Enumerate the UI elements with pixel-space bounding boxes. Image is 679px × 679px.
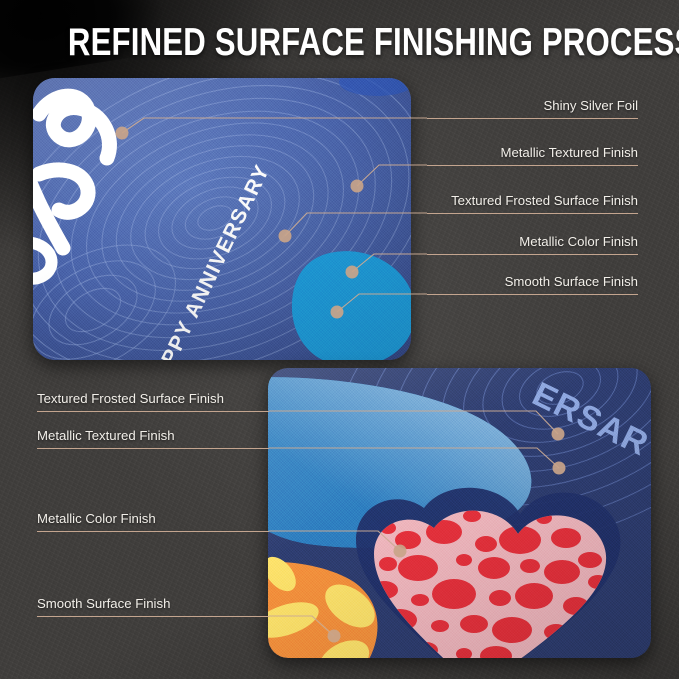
label-underline xyxy=(427,118,638,119)
card-bottom-grain xyxy=(268,368,651,658)
finish-label-top-2[interactable]: Textured Frosted Surface Finish xyxy=(451,193,638,209)
card-bottom-caption-text: ERSAR xyxy=(526,375,651,464)
finish-label-top-3[interactable]: Metallic Color Finish xyxy=(519,234,638,250)
label-underline xyxy=(37,448,269,449)
card-top-blue-field xyxy=(33,78,411,360)
finish-label-top-0[interactable]: Shiny Silver Foil xyxy=(543,98,638,114)
label-underline xyxy=(37,411,269,412)
finish-label-bottom-0[interactable]: Textured Frosted Surface Finish xyxy=(37,391,224,407)
card-bottom-closeup: ERSAR xyxy=(268,368,651,658)
page-title: REFINED SURFACE FINISHING PROCESS xyxy=(68,22,611,64)
label-underline xyxy=(37,531,269,532)
card-bottom-artwork: ERSAR xyxy=(268,368,651,658)
finish-label-top-4[interactable]: Smooth Surface Finish xyxy=(505,274,638,290)
finish-label-top-1[interactable]: Metallic Textured Finish xyxy=(500,145,638,161)
infographic-canvas: REFINED SURFACE FINISHING PROCESS xyxy=(0,0,679,679)
card-top-greeting: HAPPY ANNIVERSARY xyxy=(33,78,411,360)
finish-label-bottom-1[interactable]: Metallic Textured Finish xyxy=(37,428,175,444)
label-underline xyxy=(427,254,638,255)
label-underline xyxy=(427,165,638,166)
label-underline xyxy=(37,616,269,617)
label-underline xyxy=(427,294,638,295)
card-bottom-sheen xyxy=(268,368,651,658)
finish-label-bottom-3[interactable]: Smooth Surface Finish xyxy=(37,596,170,612)
finish-label-bottom-2[interactable]: Metallic Color Finish xyxy=(37,511,156,527)
label-underline xyxy=(427,213,638,214)
